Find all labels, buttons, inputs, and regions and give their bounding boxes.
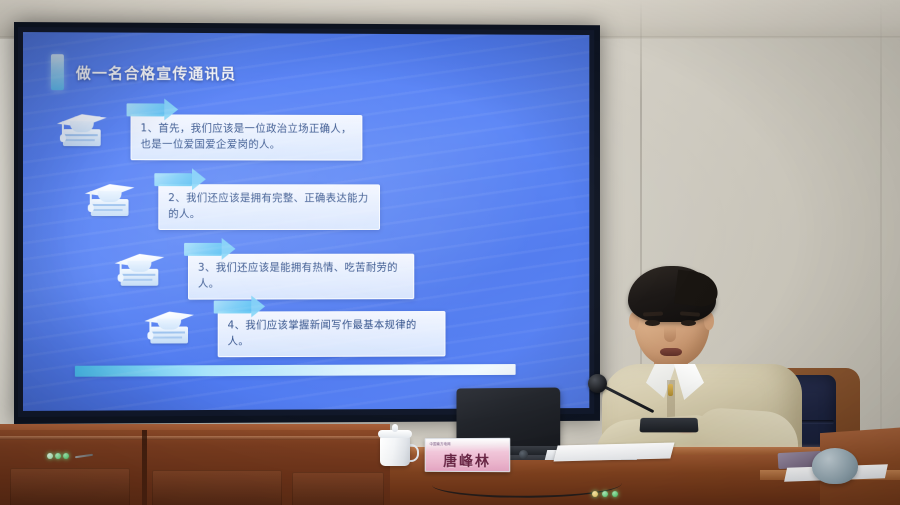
front-desk-seam [142, 430, 147, 505]
front-desk-edge [0, 436, 390, 440]
teacup-knob [392, 424, 398, 432]
slide-title: 做一名合格宣传通讯员 [76, 62, 237, 84]
gooseneck-microphone [588, 360, 658, 420]
graduation-cap-icon [53, 104, 111, 152]
arrow-ribbon [184, 238, 235, 260]
conference-mic-unit [592, 488, 652, 500]
graduation-cap-icon [111, 244, 169, 292]
led-indicator [63, 453, 69, 459]
desk-object [812, 448, 858, 484]
mic-base [639, 418, 698, 433]
front-desk-panel [292, 472, 384, 505]
title-accent-bar [51, 54, 64, 90]
projection-screen: 做一名合格宣传通讯员 1、首先，我们应 [14, 22, 600, 424]
graduation-cap-icon [81, 174, 139, 222]
slide-bottom-accent-bar [75, 364, 516, 377]
nose [664, 326, 676, 342]
conference-mic-unit [47, 450, 93, 462]
slide-item-text: 4、我们应该掌握新闻写作最基本规律的人。 [218, 311, 446, 357]
mic-gooseneck [601, 384, 654, 413]
item-callout-group: 4、我们应该掌握新闻写作最基本规律的人。 [202, 299, 446, 357]
arrow-ribbon [154, 168, 205, 190]
screen-display: 做一名合格宣传通讯员 1、首先，我们应 [23, 32, 589, 411]
item-callout-group: 1、首先，我们应该是一位政治立场正确人，也是一位爱国爱企爱岗的人。 [115, 102, 363, 160]
eye-left [645, 320, 660, 326]
nameplate-name-text: 唐峰林 [443, 455, 491, 469]
item-callout-group: 3、我们还应该是能拥有热情、吃苦耐劳的人。 [172, 242, 414, 299]
documents-stack [554, 442, 675, 461]
arrow-head [251, 295, 265, 317]
hair [628, 266, 716, 322]
arrow-body [154, 173, 192, 186]
tassel-shape [149, 319, 151, 334]
tassel-shape [90, 191, 92, 206]
tassel-shape [62, 121, 64, 136]
arrow-head [192, 168, 206, 190]
teacup-body [380, 436, 410, 466]
nameplate-org-text: 中国南方电网 [430, 441, 451, 446]
led-indicator [612, 491, 618, 497]
led-indicator [592, 491, 598, 497]
arrow-head [164, 99, 178, 121]
slide-item: 2、我们还应该是拥有完整、正确表达能力的人。 [81, 174, 380, 229]
mic-head [588, 374, 607, 393]
zipper-pull [668, 384, 673, 396]
slide-item-text: 3、我们还应该是能拥有热情、吃苦耐劳的人。 [188, 254, 414, 300]
arrow-body [127, 103, 165, 116]
eye-right [681, 320, 696, 326]
front-desk-panel [10, 468, 130, 505]
slide-item-text: 1、首先，我们应该是一位政治立场正确人，也是一位爱国爱企爱岗的人。 [131, 114, 363, 160]
arrow-body [184, 242, 222, 255]
laptop-hinge-dot [519, 450, 528, 459]
slide-title-row: 做一名合格宣传通讯员 [51, 54, 237, 91]
arrow-head [222, 238, 236, 260]
item-callout-group: 2、我们还应该是拥有完整、正确表达能力的人。 [142, 172, 380, 229]
slide-item: 3、我们还应该是能拥有热情、吃苦耐劳的人。 [111, 244, 415, 300]
nameplate: 中国南方电网 唐峰林 [425, 438, 511, 472]
led-indicator [47, 453, 53, 459]
led-indicator [55, 453, 61, 459]
mic-stem [75, 454, 93, 458]
front-desk-panel [152, 470, 282, 505]
slide-item-text: 2、我们还应该是拥有完整、正确表达能力的人。 [158, 184, 380, 229]
mouth [660, 348, 682, 356]
arrow-ribbon [214, 295, 265, 317]
arrow-ribbon [127, 98, 179, 120]
tassel-shape [120, 261, 122, 276]
screenshot-root: 做一名合格宣传通讯员 1、首先，我们应 [0, 0, 900, 505]
slide-item: 1、首先，我们应该是一位政治立场正确人，也是一位爱国爱企爱岗的人。 [53, 104, 362, 160]
slide-item: 4、我们应该掌握新闻写作最基本规律的人。 [140, 301, 445, 357]
led-indicator [602, 491, 608, 497]
presentation-slide: 做一名合格宣传通讯员 1、首先，我们应 [23, 32, 589, 411]
graduation-cap-icon [140, 302, 197, 350]
lidded-tea-cup [378, 424, 412, 470]
arrow-body [214, 300, 252, 313]
